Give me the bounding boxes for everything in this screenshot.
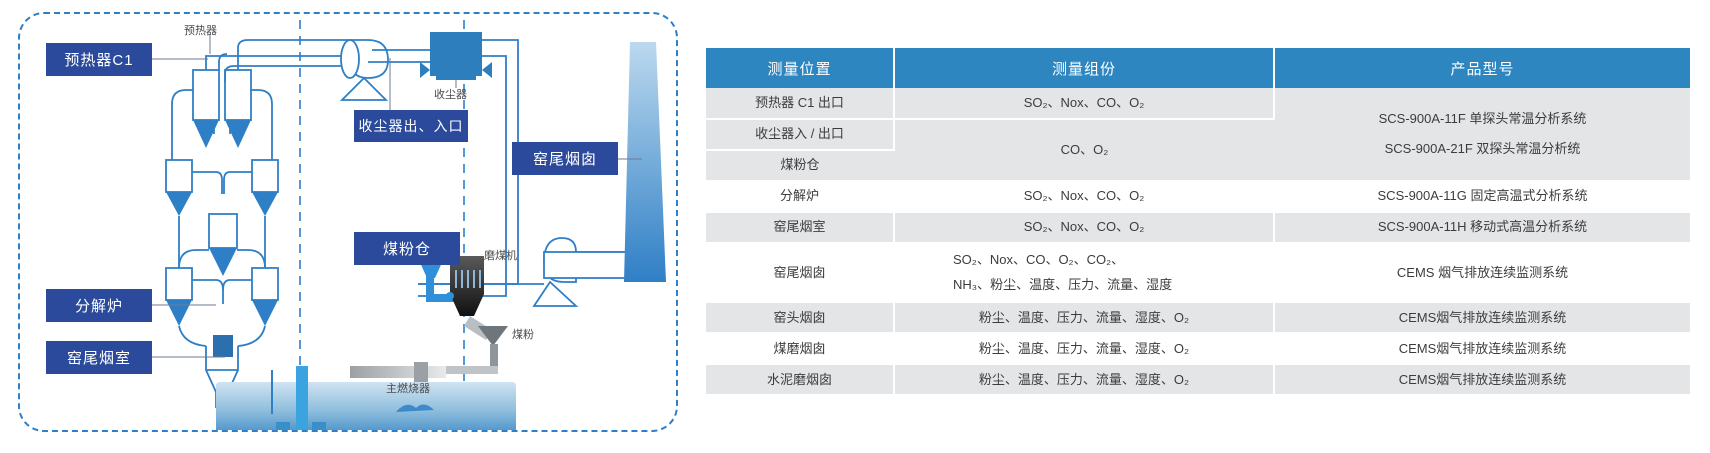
cell-location: 煤磨烟囱	[706, 333, 894, 364]
cell-components: SO₂、Nox、CO、O₂	[894, 181, 1274, 212]
cell-components: SO₂、Nox、CO、O₂	[894, 212, 1274, 243]
cell-product: SCS-900A-11G 固定高温式分析系统	[1274, 181, 1690, 212]
header-components: 测量组份	[894, 48, 1274, 88]
tag-coal-powder-bin[interactable]: 煤粉仓	[354, 232, 460, 265]
cell-location: 收尘器入 / 出口	[706, 119, 894, 150]
table-row: 煤磨烟囱 粉尘、温度、压力、流量、湿度、O₂ CEMS烟气排放连续监测系统	[706, 333, 1690, 364]
components-line-1: SO₂、Nox、CO、O₂、CO₂、	[953, 248, 1267, 273]
cell-components: CO、O₂	[894, 119, 1274, 181]
table-row: 窑尾烟室 SO₂、Nox、CO、O₂ SCS-900A-11H 移动式高温分析系…	[706, 212, 1690, 243]
cell-location: 窑尾烟囱	[706, 243, 894, 302]
table-row: 窑尾烟囱 SO₂、Nox、CO、O₂、CO₂、 NH₃、粉尘、温度、压力、流量、…	[706, 243, 1690, 302]
product-line-2: SCS-900A-21F 双探头常温分析统	[1281, 139, 1684, 159]
tag-kiln-tail-chamber-label: 窑尾烟室	[67, 347, 131, 368]
cell-product: SCS-900A-11F 单探头常温分析系统 SCS-900A-21F 双探头常…	[1274, 88, 1690, 181]
table-row: 水泥磨烟囱 粉尘、温度、压力、流量、湿度、O₂ CEMS烟气排放连续监测系统	[706, 364, 1690, 395]
cell-components: SO₂、Nox、CO、O₂、CO₂、 NH₃、粉尘、温度、压力、流量、湿度	[894, 243, 1274, 302]
table-row: 分解炉 SO₂、Nox、CO、O₂ SCS-900A-11G 固定高温式分析系统	[706, 181, 1690, 212]
cell-components: 粉尘、温度、压力、流量、湿度、O₂	[894, 302, 1274, 333]
label-coal-mill: 磨煤机	[484, 247, 517, 263]
cell-product: CEMS烟气排放连续监测系统	[1274, 302, 1690, 333]
table-header-row: 测量位置 测量组份 产品型号	[706, 48, 1690, 88]
table-row: 预热器 C1 出口 SO₂、Nox、CO、O₂ SCS-900A-11F 单探头…	[706, 88, 1690, 119]
main-burner-pipe	[350, 366, 446, 378]
tag-calciner[interactable]: 分解炉	[46, 289, 152, 322]
tag-preheater-c1[interactable]: 预热器C1	[46, 43, 152, 76]
tag-dust-collector-io-label: 收尘器出、入口	[359, 116, 464, 136]
cell-product: CEMS烟气排放连续监测系统	[1274, 364, 1690, 395]
label-coal-powder: 煤粉	[512, 326, 534, 342]
tag-calciner-label: 分解炉	[75, 295, 123, 316]
tag-coal-powder-bin-label: 煤粉仓	[383, 238, 431, 259]
header-product: 产品型号	[1274, 48, 1690, 88]
cell-location: 分解炉	[706, 181, 894, 212]
cell-location: 煤粉仓	[706, 150, 894, 181]
cell-product: CEMS 烟气排放连续监测系统	[1274, 243, 1690, 302]
label-preheater: 预热器	[184, 22, 217, 38]
process-diagram: 预热器C1 收尘器出、入口 窑尾烟囱 煤粉仓 分解炉 窑尾烟室 预热器 收尘器 …	[18, 12, 678, 432]
cell-components: 粉尘、温度、压力、流量、湿度、O₂	[894, 364, 1274, 395]
tag-kiln-tail-chamber[interactable]: 窑尾烟室	[46, 341, 152, 374]
spec-table: 测量位置 测量组份 产品型号 预热器 C1 出口 SO₂、Nox、CO、O₂ S…	[706, 48, 1690, 396]
components-line-2: NH₃、粉尘、温度、压力、流量、湿度	[953, 273, 1267, 298]
cell-product: SCS-900A-11H 移动式高温分析系统	[1274, 212, 1690, 243]
burner-collar	[414, 362, 428, 382]
label-main-burner: 主燃烧器	[386, 380, 430, 396]
dust-collector-unit	[420, 32, 492, 80]
label-dust-collector: 收尘器	[434, 86, 467, 102]
header-location: 测量位置	[706, 48, 894, 88]
page-root: 预热器C1 收尘器出、入口 窑尾烟囱 煤粉仓 分解炉 窑尾烟室 预热器 收尘器 …	[0, 0, 1710, 453]
tag-kiln-tail-stack-label: 窑尾烟囱	[533, 148, 597, 169]
chimney	[624, 42, 666, 282]
tag-dust-collector-io[interactable]: 收尘器出、入口	[354, 110, 468, 142]
cell-location: 水泥磨烟囱	[706, 364, 894, 395]
kiln-support-band	[296, 366, 308, 430]
spec-table-wrap: 测量位置 测量组份 产品型号 预热器 C1 出口 SO₂、Nox、CO、O₂ S…	[706, 48, 1690, 396]
cell-location: 窑头烟囱	[706, 302, 894, 333]
cell-location: 预热器 C1 出口	[706, 88, 894, 119]
cell-components: SO₂、Nox、CO、O₂	[894, 88, 1274, 119]
cell-components: 粉尘、温度、压力、流量、湿度、O₂	[894, 333, 1274, 364]
table-row: 窑头烟囱 粉尘、温度、压力、流量、湿度、O₂ CEMS烟气排放连续监测系统	[706, 302, 1690, 333]
zone-dividers	[300, 20, 464, 424]
id-fan-1	[341, 40, 430, 100]
cell-product: CEMS烟气排放连续监测系统	[1274, 333, 1690, 364]
tag-kiln-tail-stack[interactable]: 窑尾烟囱	[512, 142, 618, 175]
rotary-kiln	[216, 382, 516, 430]
cell-location: 窑尾烟室	[706, 212, 894, 243]
tag-preheater-c1-label: 预热器C1	[64, 49, 133, 70]
product-line-1: SCS-900A-11F 单探头常温分析系统	[1281, 109, 1684, 129]
calciner-node	[213, 335, 233, 357]
